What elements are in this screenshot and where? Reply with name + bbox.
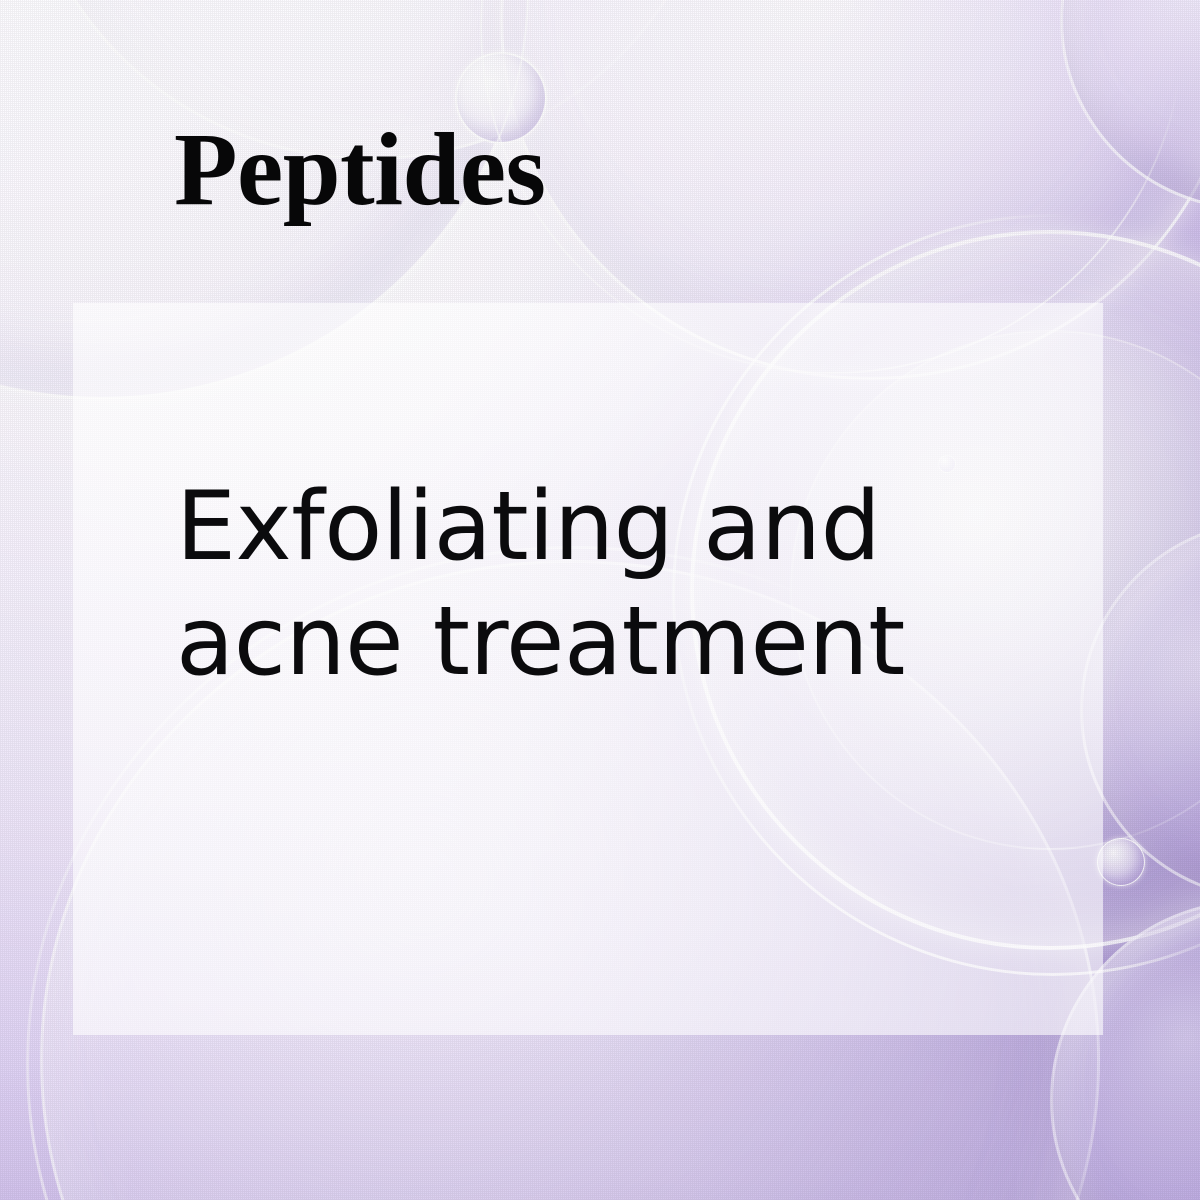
social-card: Peptides Exfoliating and acne treatment xyxy=(0,0,1200,1200)
page-title: Peptides xyxy=(174,118,546,222)
subheadline-line-1: Exfoliating and xyxy=(176,470,1056,585)
subheadline: Exfoliating and acne treatment xyxy=(176,470,1056,700)
subheadline-line-2: acne treatment xyxy=(176,585,1056,700)
